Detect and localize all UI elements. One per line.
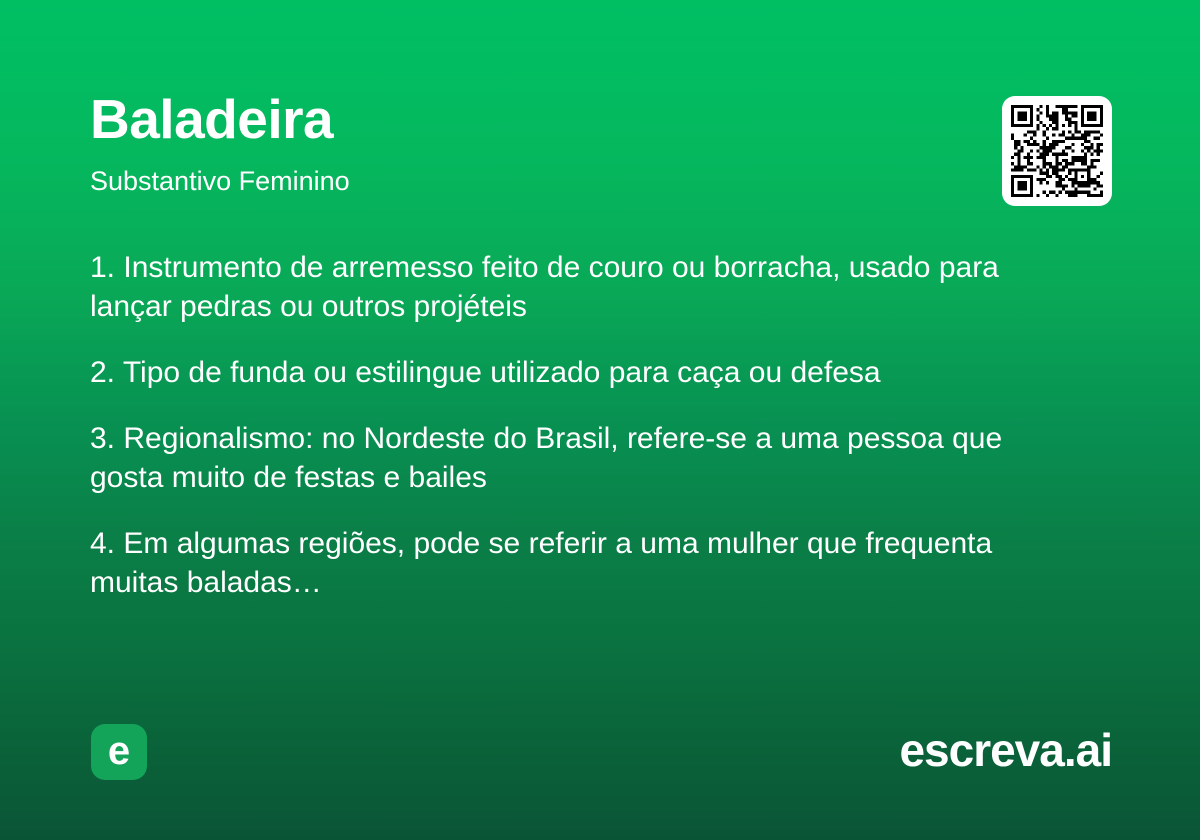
definition-list: 1. Instrumento de arremesso feito de cou… xyxy=(90,248,1080,602)
definition-item: 1. Instrumento de arremesso feito de cou… xyxy=(90,248,1080,326)
definition-item: 2. Tipo de funda ou estilingue utilizado… xyxy=(90,353,1080,392)
qr-code[interactable] xyxy=(1002,96,1112,206)
definition-item: 3. Regionalismo: no Nordeste do Brasil, … xyxy=(90,419,1080,497)
part-of-speech-label: Substantivo Feminino xyxy=(90,166,350,197)
definition-item: 4. Em algumas regiões, pode se referir a… xyxy=(90,524,1080,602)
brand-logo-letter: e xyxy=(91,724,147,780)
page-title: Baladeira xyxy=(90,92,333,147)
brand-wordmark: escreva.ai xyxy=(899,723,1112,778)
qr-code-icon xyxy=(1011,105,1103,197)
dictionary-card: Baladeira Substantivo Feminino 1. Instru… xyxy=(0,0,1200,840)
brand-logo: e xyxy=(91,724,147,780)
